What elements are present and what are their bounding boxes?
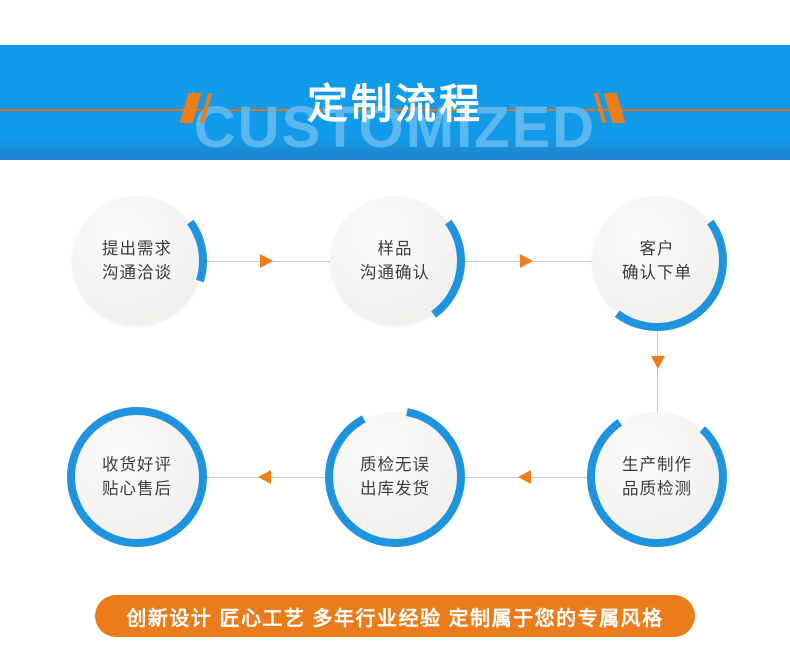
process-flow-diagram: 提出需求 沟通洽谈 样品 沟通确认 客户 确认下单 [0,160,790,570]
flow-step-2[interactable]: 样品 沟通确认 [330,196,460,326]
step-label: 质检无误 出库发货 [330,412,460,542]
arrow-right-icon [520,254,533,268]
arrow-left-icon [258,470,271,484]
step-label-line2: 出库发货 [360,480,430,499]
step-label-line1: 生产制作 [622,456,692,475]
connector-step3-step4 [657,328,658,414]
footer-tagline-banner: 创新设计 匠心工艺 多年行业经验 定制属于您的专属风格 [95,595,695,637]
step-label-line1: 收货好评 [102,456,172,475]
arrow-right-icon [260,254,273,268]
header-inner: CUSTOMIZED 定制流程 [0,45,790,160]
header-banner: CUSTOMIZED 定制流程 [0,45,790,160]
step-label-line2: 沟通确认 [360,264,430,283]
footer-tagline-text: 创新设计 匠心工艺 多年行业经验 定制属于您的专属风格 [126,602,663,631]
step-label-line2: 沟通洽谈 [102,264,172,283]
step-label-line1: 提出需求 [102,240,172,259]
step-label-line1: 客户 [640,240,675,259]
step-label-line2: 品质检测 [622,480,692,499]
step-label: 提出需求 沟通洽谈 [72,196,202,326]
step-label-line2: 贴心售后 [102,480,172,499]
page-title: 定制流程 [0,84,790,125]
flow-step-6[interactable]: 收货好评 贴心售后 [72,412,202,542]
step-label: 生产制作 品质检测 [592,412,722,542]
step-label-line2: 确认下单 [622,264,692,283]
flow-step-5[interactable]: 质检无误 出库发货 [330,412,460,542]
step-label-line1: 质检无误 [360,456,430,475]
flow-step-3[interactable]: 客户 确认下单 [592,196,722,326]
step-label: 样品 沟通确认 [330,196,460,326]
flow-step-1[interactable]: 提出需求 沟通洽谈 [72,196,202,326]
arrow-left-icon [518,470,531,484]
arrow-down-icon [651,356,665,369]
step-label-line1: 样品 [378,240,413,259]
step-label: 收货好评 贴心售后 [72,412,202,542]
step-label: 客户 确认下单 [592,196,722,326]
flow-step-4[interactable]: 生产制作 品质检测 [592,412,722,542]
